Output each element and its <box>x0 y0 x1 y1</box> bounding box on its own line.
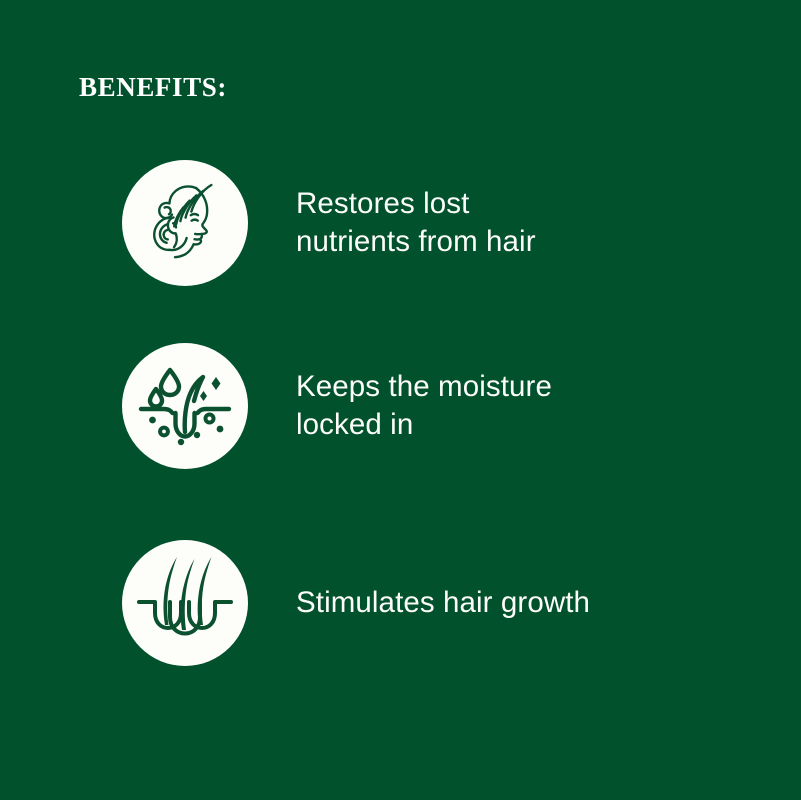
moisture-hair-follicle-icon <box>122 343 248 469</box>
benefit-label: Keeps the moisture locked in <box>296 368 716 444</box>
benefits-list: Restores lost nutrients from hair <box>0 0 801 800</box>
benefit-label: Stimulates hair growth <box>296 584 716 622</box>
benefit-item: Restores lost nutrients from hair <box>0 160 801 286</box>
benefit-label: Restores lost nutrients from hair <box>296 185 716 261</box>
woman-hair-care-icon <box>122 160 248 286</box>
benefit-item: Stimulates hair growth <box>0 540 801 666</box>
benefits-card: BENEFITS: <box>0 0 801 800</box>
hair-growth-follicles-icon <box>122 540 248 666</box>
benefit-item: Keeps the moisture locked in <box>0 343 801 469</box>
